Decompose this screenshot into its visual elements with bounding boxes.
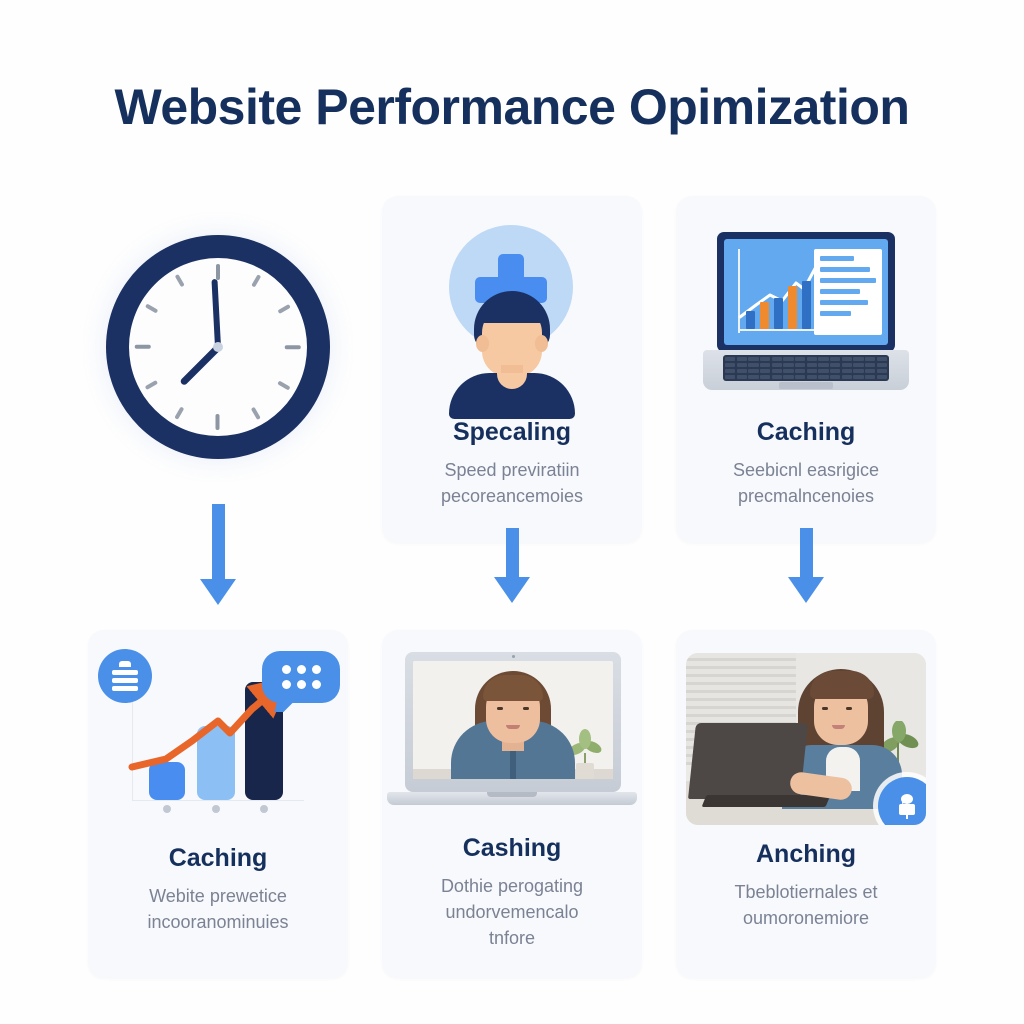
- card-speed-body: Speed previratiin pecoreancemoies: [419, 457, 605, 509]
- clock-face: [129, 258, 307, 436]
- card-clock[interactable]: [88, 196, 348, 543]
- chart-side-panel: [814, 249, 882, 335]
- card-speed-title: Specaling: [453, 418, 571, 447]
- arrow-down-icon-2: [499, 528, 525, 603]
- chart-axis-x: [738, 329, 823, 331]
- laptop-keyboard: [723, 355, 889, 381]
- laptop-video-call-icon: [387, 650, 637, 822]
- clock-minute-hand: [211, 279, 221, 347]
- card-caching-chart[interactable]: Caching Webite prewetice incooranominuie…: [88, 630, 348, 978]
- message-bubble-icon[interactable]: [262, 651, 340, 703]
- video-call-visual: [382, 648, 642, 824]
- card-caching-chart-title: Caching: [169, 844, 268, 873]
- laptop-analytics-visual: [676, 222, 936, 408]
- woman-at-laptop-photo: [686, 653, 926, 825]
- woman-eye-left: [822, 707, 828, 710]
- card-anching-desk-title: Anching: [756, 840, 856, 869]
- card-cashing-videocall-body: Dothie perogating undorvemencalo tnfore: [419, 873, 605, 951]
- mailbox-icon: [893, 792, 921, 820]
- bubble-dots: [282, 665, 321, 689]
- person-plus-avatar-icon: [427, 225, 597, 405]
- document-icon: [112, 661, 138, 691]
- bar-chart-growth-icon: [98, 649, 338, 833]
- arrow-down-icon-3: [793, 528, 819, 603]
- woman-mouth: [832, 725, 845, 729]
- laptop-lid: [405, 652, 621, 792]
- card-anching-desk-body: Tbeblotiernales et oumoronemiore: [712, 879, 899, 931]
- card-anching-desk[interactable]: Anching Tbeblotiernales et oumoronemiore: [676, 630, 936, 978]
- document-badge-icon[interactable]: [98, 649, 152, 703]
- person-eye-left: [497, 707, 503, 710]
- clock-center-pin: [213, 342, 223, 352]
- person-eye-right: [523, 707, 529, 710]
- infographic-page: Website Performance Opimization: [0, 0, 1024, 1024]
- card-speed[interactable]: Specaling Speed previratiin pecoreancemo…: [382, 196, 642, 543]
- person-mouth: [506, 725, 520, 729]
- desk-photo-visual: [676, 648, 936, 830]
- laptop-lid: [717, 232, 895, 352]
- arrow-down-icon-1: [205, 504, 231, 605]
- person-fringe: [483, 675, 543, 701]
- laptop-notch: [487, 792, 537, 797]
- woman-eye-right: [846, 707, 852, 710]
- card-cashing-videocall[interactable]: Cashing Dothie perogating undorvemencalo…: [382, 630, 642, 978]
- card-caching-chart-body: Webite prewetice incooranominuies: [125, 883, 310, 935]
- card-caching-analytics-title: Caching: [757, 418, 856, 447]
- laptop-trackpad: [779, 382, 833, 389]
- avatar-ear-right: [535, 335, 548, 352]
- person-visual: [382, 222, 642, 408]
- video-call-screen: [413, 661, 613, 779]
- avatar-ear-left: [476, 335, 489, 352]
- card-cashing-videocall-title: Cashing: [463, 834, 562, 863]
- clock-icon: [106, 235, 330, 459]
- card-caching-analytics-body: Seebicnl easrigice precmalncenoies: [711, 457, 901, 509]
- laptop-screen: [724, 239, 888, 345]
- woman-fringe: [810, 671, 874, 699]
- bar-chart-visual: [88, 648, 348, 834]
- webcam-icon: [512, 655, 515, 658]
- desk-laptop-keyboard: [702, 795, 831, 807]
- laptop-analytics-icon: [701, 230, 911, 400]
- page-title: Website Performance Opimization: [0, 78, 1024, 136]
- card-caching-analytics[interactable]: Caching Seebicnl easrigice precmalncenoi…: [676, 196, 936, 543]
- clock-visual: [88, 222, 348, 472]
